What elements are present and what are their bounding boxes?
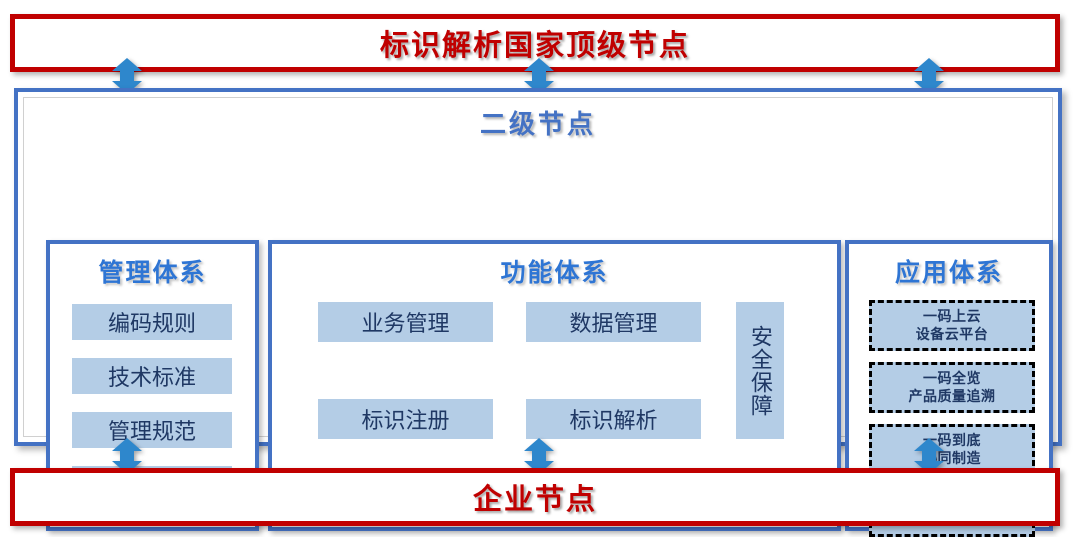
chip-identifier-resolution[interactable]: 标识解析 [526, 399, 701, 439]
chip-line-1: 一码上云 [923, 308, 981, 324]
chip-data-management[interactable]: 数据管理 [526, 302, 701, 342]
chip-security-assurance[interactable]: 安全保障 [736, 302, 784, 439]
chip-line-2: 产品质量追溯 [909, 388, 996, 404]
chip-coding-rules[interactable]: 编码规则 [72, 304, 232, 340]
second-level-node-box[interactable]: 二级节点 管理体系 编码规则 技术标准 管理规范 运营规范 功能体系 业务管理 … [14, 88, 1062, 446]
panel-application-title: 应用体系 [849, 253, 1049, 289]
panel-function-title: 功能体系 [272, 253, 837, 289]
chip-line-wrap: 一码上云 设备云平台 [916, 308, 989, 342]
chip-business-management[interactable]: 业务管理 [318, 302, 493, 342]
chip-line-2: 设备云平台 [916, 326, 989, 342]
chip-line-1: 一码全览 [923, 370, 981, 386]
enterprise-node-box[interactable]: 企业节点 [10, 468, 1060, 526]
chip-technical-standards[interactable]: 技术标准 [72, 358, 232, 394]
second-level-node-title: 二级节点 [18, 104, 1058, 141]
chip-identifier-registration[interactable]: 标识注册 [318, 399, 493, 439]
diagram-canvas: 标识解析国家顶级节点 二级节点 管理体系 编码规则 技术标准 管理规范 运营规范… [0, 0, 1079, 530]
panel-management-title: 管理体系 [50, 253, 255, 289]
chip-one-code-full-view[interactable]: 一码全览 产品质量追溯 [869, 362, 1035, 413]
chip-management-specification[interactable]: 管理规范 [72, 412, 232, 448]
chip-line-wrap: 一码全览 产品质量追溯 [909, 370, 996, 404]
chip-one-code-to-cloud[interactable]: 一码上云 设备云平台 [869, 300, 1035, 351]
enterprise-node-label: 企业节点 [473, 476, 597, 518]
